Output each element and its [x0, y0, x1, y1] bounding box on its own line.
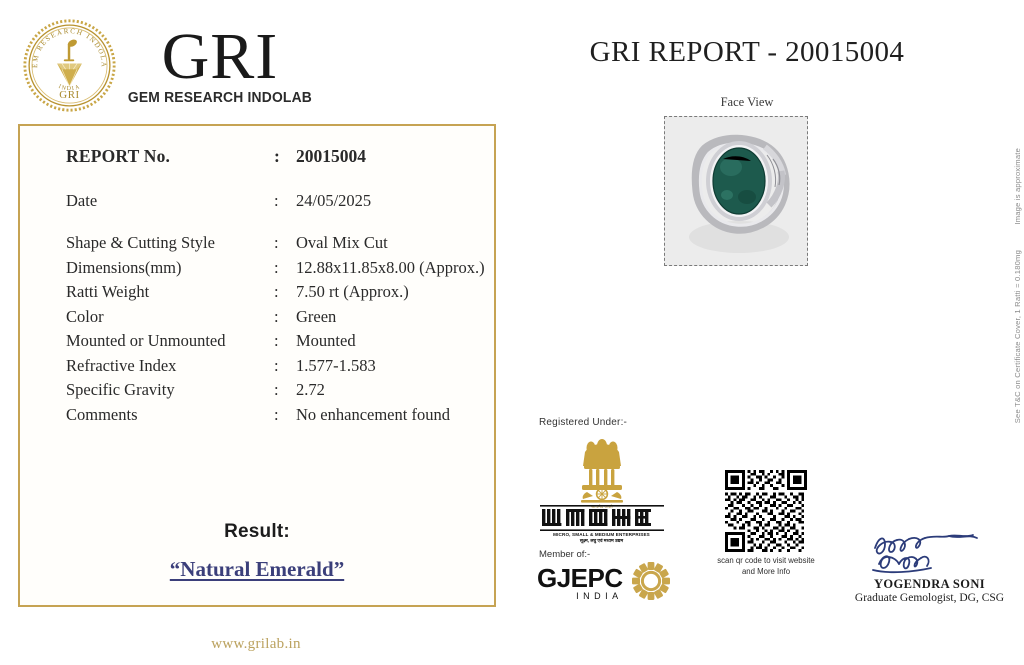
row-label: Shape & Cutting Style	[66, 235, 274, 252]
table-row: Specific Gravity : 2.72	[66, 382, 486, 399]
table-row: Date : 24/05/2025	[66, 193, 486, 210]
svg-text:GRI: GRI	[59, 89, 79, 101]
row-value: 24/05/2025	[296, 193, 486, 210]
table-row: Ratti Weight : 7.50 rt (Approx.)	[66, 284, 486, 301]
gri-seal-icon: GEM RESEARCH INDOLAB INDIA	[22, 18, 117, 113]
gjepc-sunburst-icon	[630, 560, 672, 607]
member-of-label: Member of:-	[539, 549, 590, 560]
row-label: Mounted or Unmounted	[66, 333, 274, 350]
msme-hindi-subtitle: सूक्ष्म, लघु एवं मध्यम उद्यम	[539, 538, 664, 544]
row-colon: :	[274, 407, 296, 424]
table-row: Shape & Cutting Style : Oval Mix Cut	[66, 235, 486, 252]
vertical-note-terms: See T&C on Certificate Cover, 1 Ratti = …	[1013, 250, 1022, 423]
details-rows: REPORT No. : 20015004 Date : 24/05/2025 …	[66, 148, 486, 423]
website-footer[interactable]: www.grilab.in	[0, 636, 512, 653]
gri-logo-text: GRI	[162, 25, 279, 90]
row-value: Mounted	[296, 333, 486, 350]
row-colon: :	[274, 260, 296, 277]
gri-wordmark: GRI GEM RESEARCH INDOLAB	[125, 25, 315, 107]
row-colon: :	[274, 148, 296, 166]
row-colon: :	[274, 309, 296, 326]
row-label: Dimensions(mm)	[66, 260, 274, 277]
row-value: Green	[296, 309, 486, 326]
qr-caption-line2: and More Info	[742, 567, 790, 576]
face-view-caption: Face View	[512, 95, 982, 110]
table-row: Mounted or Unmounted : Mounted	[66, 333, 486, 350]
ashoka-emblem-icon: सत्यमेव जयते	[563, 432, 641, 510]
gjepc-name: GJEPC	[537, 566, 623, 591]
signatory-name: YOGENDRA SONI	[842, 577, 1017, 592]
row-colon: :	[274, 284, 296, 301]
table-row: Comments : No enhancement found	[66, 407, 486, 424]
row-colon: :	[274, 358, 296, 375]
signatory-role: Graduate Gemologist, DG, CSG	[842, 592, 1017, 604]
row-value: Oval Mix Cut	[296, 235, 486, 252]
vertical-note-image-approximate: Image is approximate	[1013, 148, 1022, 225]
gjepc-text: GJEPC INDIA	[537, 566, 623, 602]
row-value: 20015004	[296, 148, 486, 166]
right-panel: GRI REPORT - 20015004 Face View	[512, 0, 1024, 665]
msme-letters-icon	[539, 505, 664, 531]
row-label: Date	[66, 193, 274, 210]
result-value: “Natural Emerald”	[20, 557, 494, 582]
signature-block: YOGENDRA SONI Graduate Gemologist, DG, C…	[842, 530, 1017, 604]
qr-code[interactable]	[725, 470, 807, 552]
left-panel: GEM RESEARCH INDOLAB INDIA	[0, 0, 512, 665]
gjepc-logo: GJEPC INDIA	[537, 560, 672, 607]
row-colon: :	[274, 235, 296, 252]
row-label: REPORT No.	[66, 148, 274, 166]
page-title: GRI REPORT - 20015004	[512, 36, 982, 69]
row-label: Refractive Index	[66, 358, 274, 375]
table-row: Refractive Index : 1.577-1.583	[66, 358, 486, 375]
signature-icon	[842, 530, 1017, 576]
row-colon: :	[274, 193, 296, 210]
registered-under-label: Registered Under:-	[539, 417, 627, 428]
row-label: Specific Gravity	[66, 382, 274, 399]
gri-tagline: GEM RESEARCH INDOLAB	[128, 90, 312, 106]
table-row: REPORT No. : 20015004	[66, 148, 486, 166]
row-label: Ratti Weight	[66, 284, 274, 301]
msme-subtitle: MICRO, SMALL & MEDIUM ENTERPRISES	[539, 532, 664, 537]
row-value: 2.72	[296, 382, 486, 399]
row-colon: :	[274, 333, 296, 350]
row-value: 12.88x11.85x8.00 (Approx.)	[296, 260, 486, 277]
row-label: Color	[66, 309, 274, 326]
gem-photo	[664, 116, 808, 266]
row-label: Comments	[66, 407, 274, 424]
table-row: Color : Green	[66, 309, 486, 326]
brand-header: GEM RESEARCH INDOLAB INDIA	[22, 18, 315, 113]
qr-caption-line1: scan qr code to visit website	[717, 556, 815, 565]
qr-caption: scan qr code to visit website and More I…	[680, 556, 852, 577]
gjepc-country: INDIA	[537, 591, 623, 601]
result-section: Result: “Natural Emerald”	[20, 521, 494, 582]
result-label: Result:	[20, 521, 494, 543]
row-value: No enhancement found	[296, 407, 486, 424]
row-value: 1.577-1.583	[296, 358, 486, 375]
table-row: Dimensions(mm) : 12.88x11.85x8.00 (Appro…	[66, 260, 486, 277]
row-value: 7.50 rt (Approx.)	[296, 284, 486, 301]
certificate-page: GEM RESEARCH INDOLAB INDIA	[0, 0, 1024, 665]
msme-logo: MICRO, SMALL & MEDIUM ENTERPRISES सूक्ष्…	[539, 505, 664, 544]
row-colon: :	[274, 382, 296, 399]
details-box: REPORT No. : 20015004 Date : 24/05/2025 …	[18, 124, 496, 607]
